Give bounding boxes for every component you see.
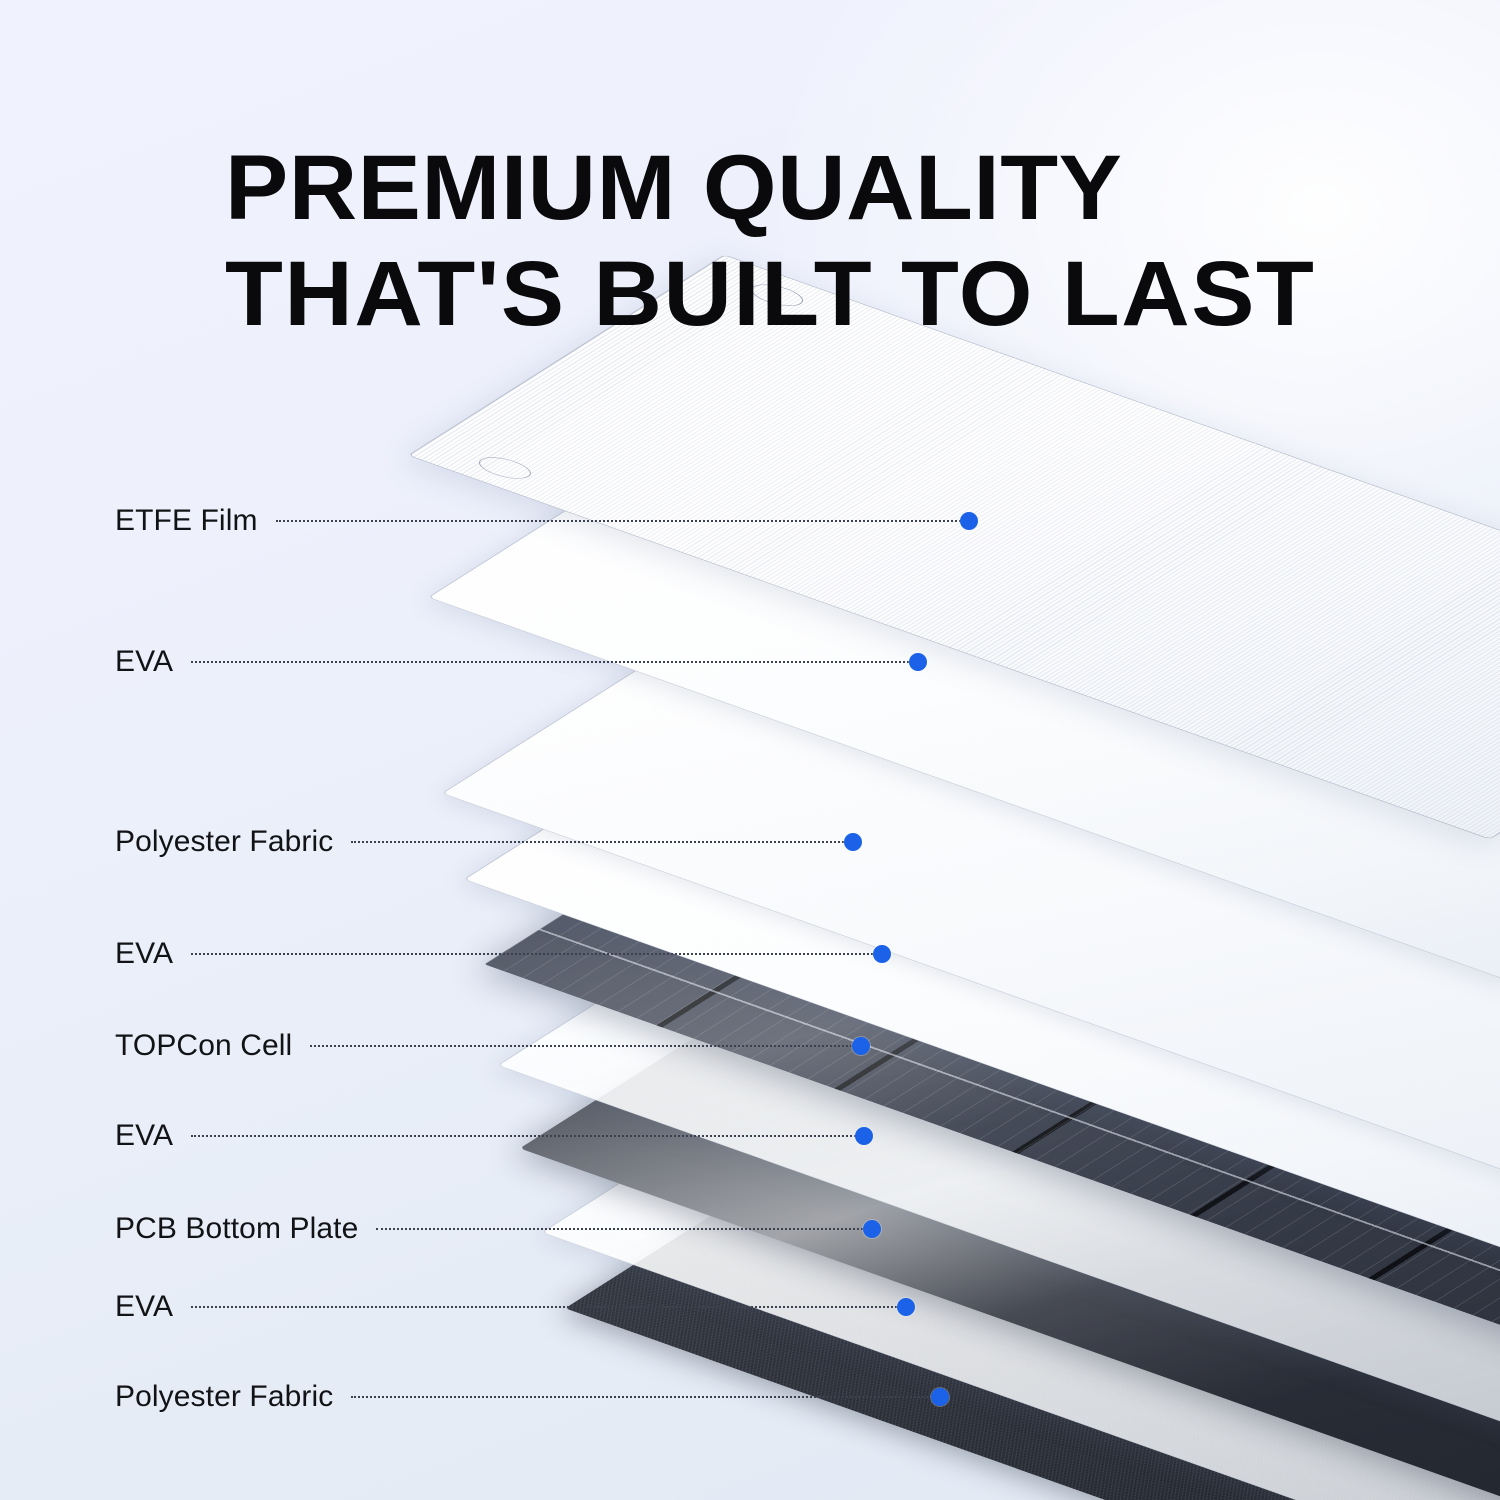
layer-callout-leader-line xyxy=(191,1306,901,1308)
layer-callout-label: EVA xyxy=(115,1290,173,1324)
layer-callout-leader-line xyxy=(191,1135,859,1137)
layer-callout-leader-line xyxy=(351,841,847,843)
layer-callout: ETFE Film xyxy=(115,501,978,541)
layer-callout-dot xyxy=(897,1298,915,1316)
layer-callout-label: Polyester Fabric xyxy=(115,825,333,859)
layer-callout-leader-line xyxy=(351,1396,934,1398)
page-title-line-2: THAT'S BUILT TO LAST xyxy=(225,242,1440,348)
layer-callout: Polyester Fabric xyxy=(115,1377,949,1417)
layer-callout-dot xyxy=(960,512,978,530)
layer-callout-leader-line xyxy=(191,661,913,663)
layer-callout-dot xyxy=(844,833,862,851)
layer-callout: EVA xyxy=(115,1116,873,1156)
layer-callout: PCB Bottom Plate xyxy=(115,1209,881,1249)
page-title: PREMIUM QUALITY THAT'S BUILT TO LAST xyxy=(225,136,1405,348)
layer-callout-dot xyxy=(863,1220,881,1238)
layer-callout-leader-line xyxy=(310,1045,856,1047)
layer-callout-label: ETFE Film xyxy=(115,504,258,538)
layer-callout-leader-line xyxy=(191,953,877,955)
layer-callout-label: TOPCon Cell xyxy=(115,1029,292,1063)
product-infographic: PREMIUM QUALITY THAT'S BUILT TO LAST ETF… xyxy=(0,0,1500,1500)
layer-callout-label: EVA xyxy=(115,937,173,971)
layer-callout-label: EVA xyxy=(115,1119,173,1153)
layer-callout: Polyester Fabric xyxy=(115,822,862,862)
layer-callout-leader-line xyxy=(376,1228,866,1230)
page-title-line-1: PREMIUM QUALITY xyxy=(225,136,1440,242)
layer-callout-dot xyxy=(852,1037,870,1055)
layer-callout: EVA xyxy=(115,642,927,682)
layer-callout: EVA xyxy=(115,934,891,974)
layer-callout: TOPCon Cell xyxy=(115,1026,870,1066)
layer-callout-dot xyxy=(931,1388,949,1406)
layer-callout-dot xyxy=(909,653,927,671)
layer-callout-dot xyxy=(855,1127,873,1145)
layer-callout-label: EVA xyxy=(115,645,173,679)
layer-callout-label: PCB Bottom Plate xyxy=(115,1212,358,1246)
layer-callout-label: Polyester Fabric xyxy=(115,1380,333,1414)
layer-callout: EVA xyxy=(115,1287,915,1327)
layer-callout-leader-line xyxy=(276,520,964,522)
layer-callout-dot xyxy=(873,945,891,963)
